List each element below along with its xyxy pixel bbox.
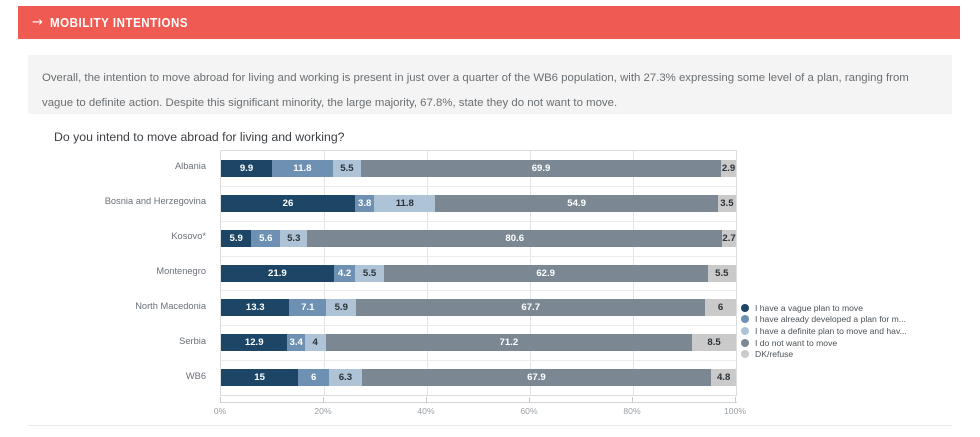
- category-label: Albania: [175, 161, 206, 171]
- bar-segment[interactable]: 26: [221, 195, 355, 212]
- bar-segment[interactable]: 67.9: [362, 369, 712, 386]
- bar-segment[interactable]: 5.5: [333, 160, 361, 177]
- chart-plot-area: 9.911.85.569.92.9263.811.854.93.55.95.65…: [220, 150, 737, 396]
- legend-item[interactable]: I have a vague plan to move: [741, 302, 976, 314]
- category-label: WB6: [186, 371, 206, 381]
- legend-color-swatch-icon: [741, 327, 749, 335]
- bar-segment[interactable]: 11.8: [374, 195, 435, 212]
- description-text: Overall, the intention to move abroad fo…: [42, 66, 938, 116]
- axis-tick-label: 40%: [417, 406, 434, 416]
- section-header: → MOBILITY INTENTIONS: [18, 6, 960, 39]
- bar-segment[interactable]: 5.9: [326, 299, 356, 316]
- bar-row[interactable]: 263.811.854.93.5: [221, 195, 736, 212]
- chart-title: Do you intend to move abroad for living …: [54, 130, 345, 144]
- description-panel: Overall, the intention to move abroad fo…: [28, 55, 952, 114]
- bar-row[interactable]: 12.93.4471.28.5: [221, 334, 736, 351]
- legend-label: I have already developed a plan for m...: [755, 314, 906, 324]
- bar-segment[interactable]: 13.3: [221, 299, 289, 316]
- bar-segment[interactable]: 54.9: [435, 195, 718, 212]
- bar-segment[interactable]: 3.8: [355, 195, 375, 212]
- category-label: Bosnia and Herzegovina: [105, 196, 206, 206]
- legend-label: I have a vague plan to move: [755, 303, 863, 313]
- bar-segment[interactable]: 69.9: [361, 160, 721, 177]
- bar-segment[interactable]: 6: [298, 369, 329, 386]
- bar-segment[interactable]: 12.9: [221, 334, 287, 351]
- category-label: Kosovo*: [171, 231, 206, 241]
- bar-segment[interactable]: 7.1: [289, 299, 326, 316]
- bar-segment[interactable]: 4.8: [711, 369, 736, 386]
- bar-segment[interactable]: 5.5: [708, 265, 736, 282]
- axis-tick-label: 20%: [314, 406, 331, 416]
- bar-segment[interactable]: 3.5: [718, 195, 736, 212]
- category-label: Montenegro: [156, 266, 206, 276]
- category-axis-labels: AlbaniaBosnia and HerzegovinaKosovo*Mont…: [0, 150, 214, 396]
- bar-segment[interactable]: 9.9: [221, 160, 272, 177]
- bar-segment[interactable]: 21.9: [221, 265, 334, 282]
- axis-tick-label: 0%: [214, 406, 226, 416]
- category-label: Serbia: [179, 336, 206, 346]
- legend-label: DK/refuse: [755, 349, 793, 359]
- legend-item[interactable]: I do not want to move: [741, 337, 976, 349]
- arrow-right-icon: →: [32, 16, 43, 29]
- axis-tick-label: 60%: [520, 406, 537, 416]
- bar-segment[interactable]: 2.7: [722, 230, 736, 247]
- legend-color-swatch-icon: [741, 339, 749, 347]
- bar-segment[interactable]: 4: [305, 334, 326, 351]
- legend-item[interactable]: I have a definite plan to move and hav..…: [741, 325, 976, 337]
- legend-item[interactable]: I have already developed a plan for m...: [741, 314, 976, 326]
- bar-row[interactable]: 5.95.65.380.62.7: [221, 230, 736, 247]
- bar-row[interactable]: 13.37.15.967.76: [221, 299, 736, 316]
- category-label: North Macedonia: [135, 301, 206, 311]
- legend-item[interactable]: DK/refuse: [741, 348, 976, 360]
- axis-tick: [529, 397, 530, 403]
- legend-label: I do not want to move: [755, 338, 837, 348]
- footer-divider: [28, 425, 952, 426]
- bar-row[interactable]: 1566.367.94.8: [221, 369, 736, 386]
- bar-segment[interactable]: 15: [221, 369, 298, 386]
- value-axis: 0%20%40%60%80%100%: [220, 397, 737, 423]
- bar-row[interactable]: 21.94.25.562.95.5: [221, 265, 736, 282]
- bar-segment[interactable]: 11.8: [272, 160, 333, 177]
- chart-legend: I have a vague plan to moveI have alread…: [741, 302, 976, 360]
- axis-tick: [426, 397, 427, 403]
- bar-segment[interactable]: 4.2: [334, 265, 356, 282]
- bar-segment[interactable]: 5.6: [251, 230, 280, 247]
- bar-segment[interactable]: 5.3: [280, 230, 307, 247]
- axis-tick: [735, 397, 736, 403]
- axis-tick: [220, 397, 221, 403]
- section-title: MOBILITY INTENTIONS: [50, 16, 188, 30]
- bar-segment[interactable]: 8.5: [692, 334, 736, 351]
- legend-color-swatch-icon: [741, 350, 749, 358]
- axis-tick-label: 80%: [623, 406, 640, 416]
- bar-row[interactable]: 9.911.85.569.92.9: [221, 160, 736, 177]
- axis-tick: [632, 397, 633, 403]
- bar-segment[interactable]: 6.3: [329, 369, 361, 386]
- legend-color-swatch-icon: [741, 304, 749, 312]
- bar-segment[interactable]: 5.5: [355, 265, 383, 282]
- bar-segment[interactable]: 71.2: [326, 334, 693, 351]
- bar-segment[interactable]: 62.9: [384, 265, 708, 282]
- bar-segment[interactable]: 5.9: [221, 230, 251, 247]
- axis-line: [220, 402, 737, 403]
- bar-rows: 9.911.85.569.92.9263.811.854.93.55.95.65…: [221, 151, 736, 395]
- bar-segment[interactable]: 3.4: [287, 334, 305, 351]
- bar-segment[interactable]: 80.6: [307, 230, 722, 247]
- axis-tick: [323, 397, 324, 403]
- bar-segment[interactable]: 6: [705, 299, 736, 316]
- legend-color-swatch-icon: [741, 315, 749, 323]
- bar-segment[interactable]: 2.9: [721, 160, 736, 177]
- axis-tick-label: 100%: [724, 406, 746, 416]
- chart-container: Do you intend to move abroad for living …: [0, 114, 980, 414]
- bar-segment[interactable]: 67.7: [356, 299, 705, 316]
- legend-label: I have a definite plan to move and hav..…: [755, 326, 907, 336]
